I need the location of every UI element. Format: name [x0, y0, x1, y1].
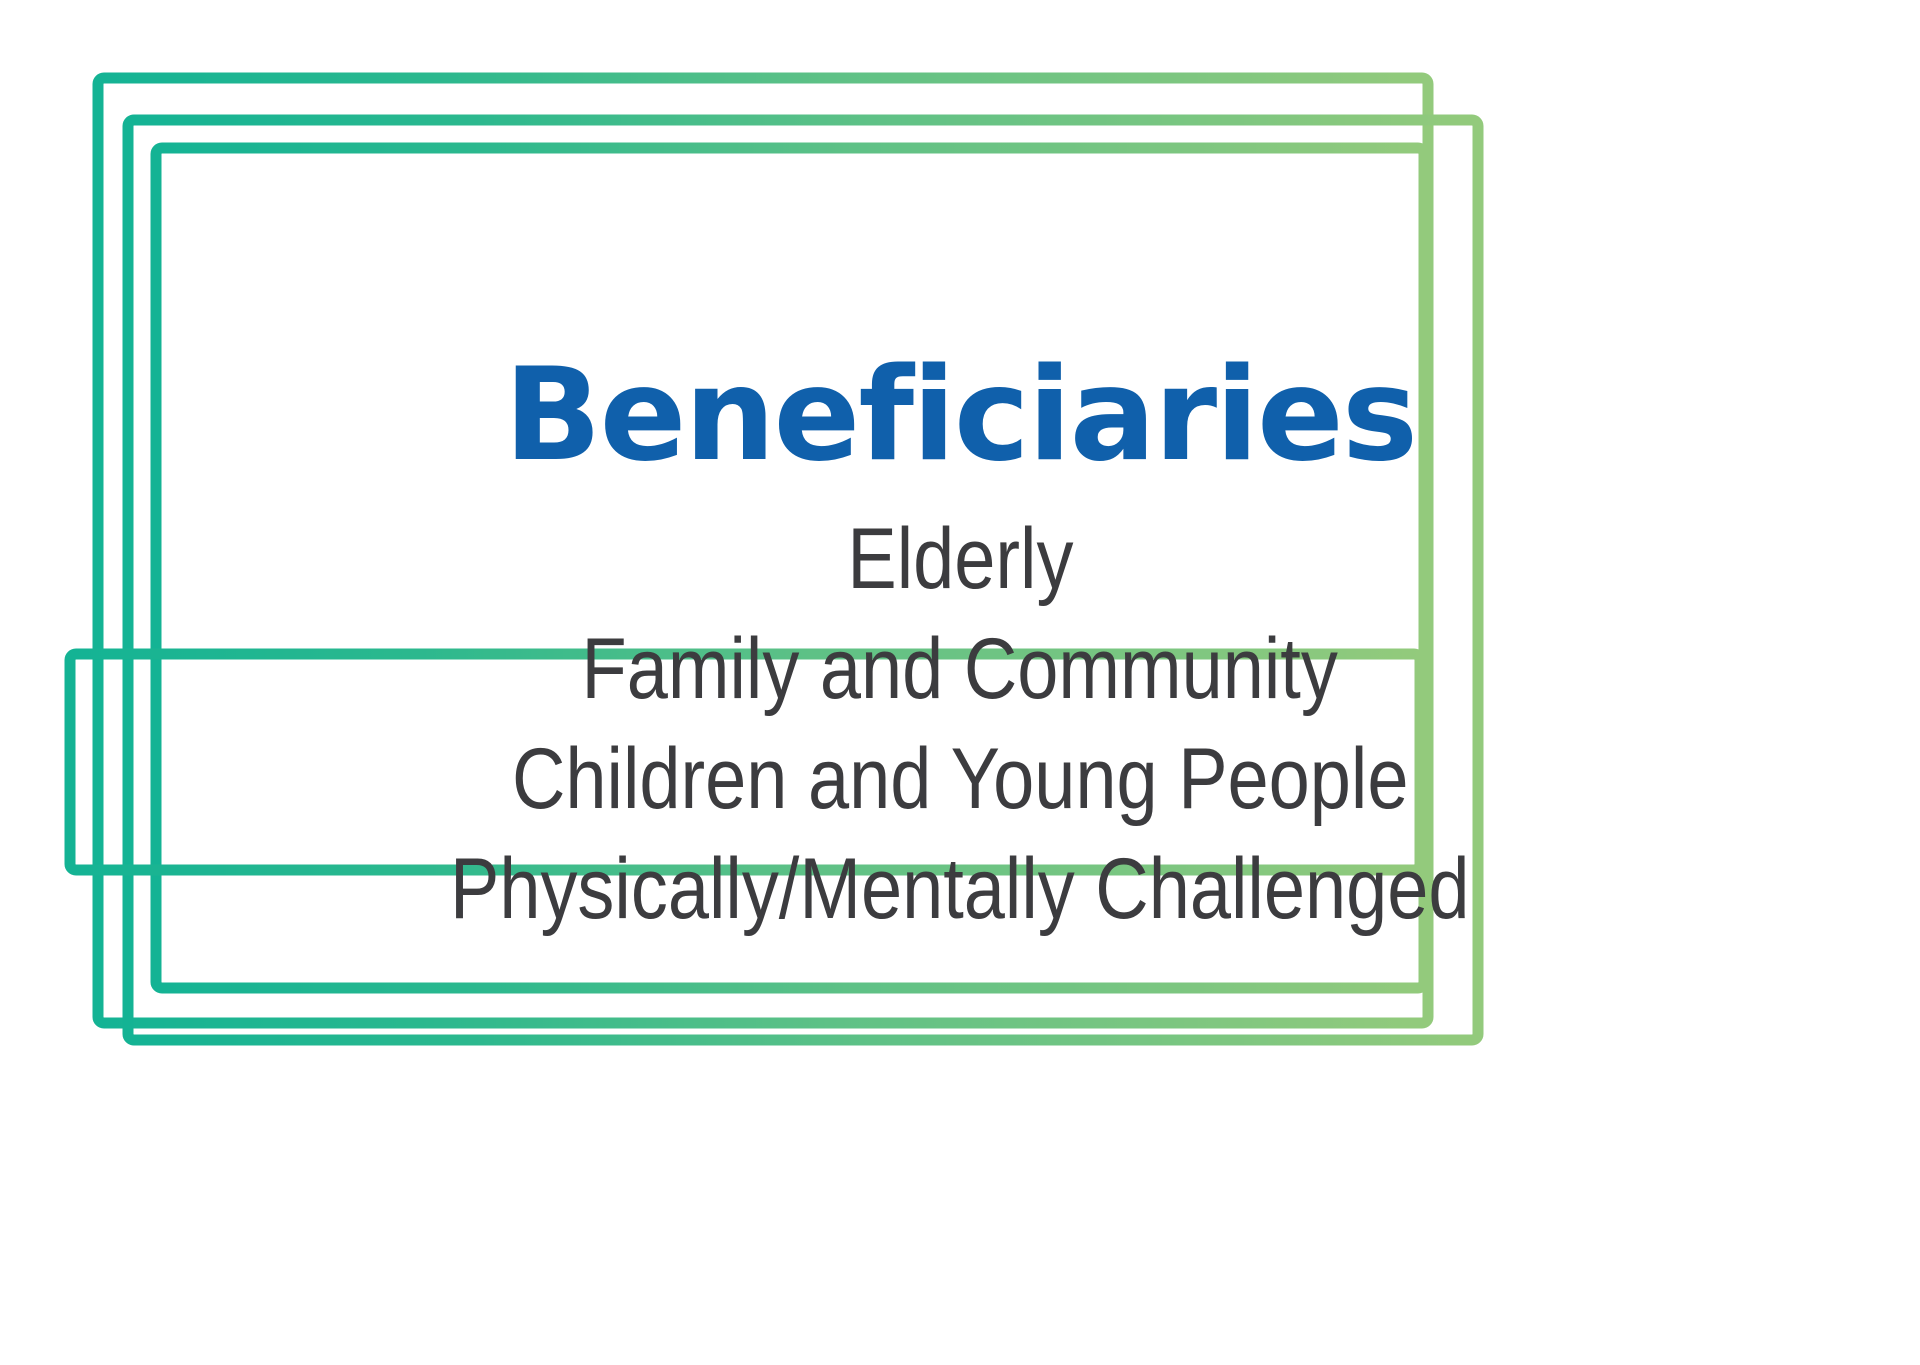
frame-rect-2 [128, 120, 1478, 1040]
frame-rect-1 [98, 78, 1428, 1023]
decorative-frame [0, 0, 1920, 1365]
poster-canvas: Beneficiaries Elderly Family and Communi… [0, 0, 1920, 1365]
frame-rect-4 [70, 654, 1420, 870]
frame-rect-3 [156, 148, 1424, 988]
